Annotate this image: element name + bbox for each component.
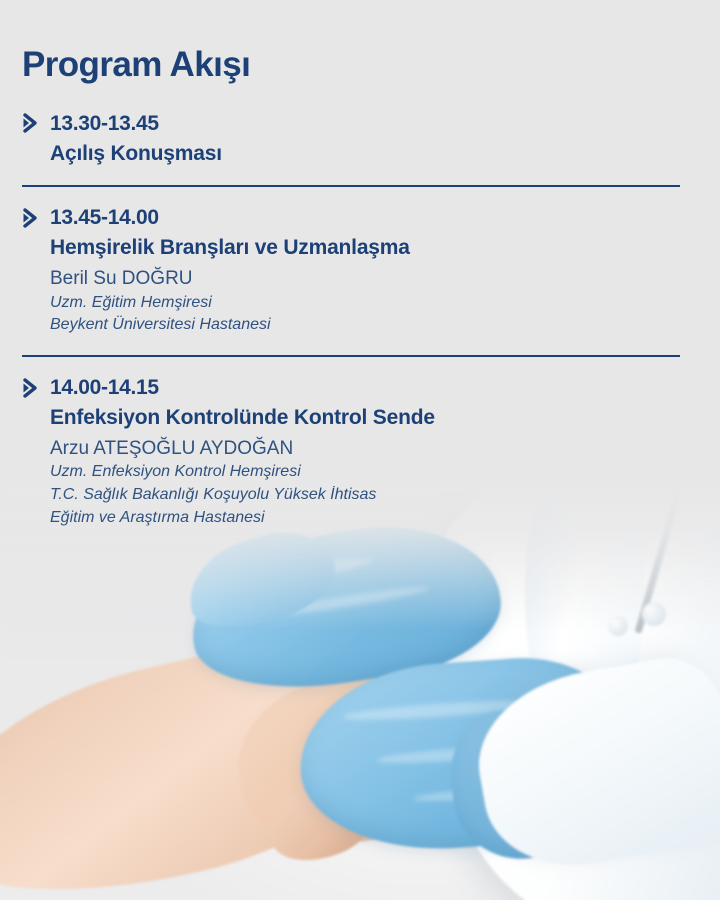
session-time: 13.45-14.00 [50,207,159,228]
session-body: Enfeksiyon Kontrolünde Kontrol Sende Arz… [22,405,700,529]
session-time: 13.30-13.45 [50,113,159,134]
content-area: Program Akışı 13.30-13.45 Açılış Konuşma… [0,0,720,530]
session-item: 13.30-13.45 Açılış Konuşması [22,113,700,188]
speaker-affiliation-line: Uzm. Enfeksiyon Kontrol Hemşiresi [50,461,700,484]
chevron-right-icon [22,208,40,228]
session-body: Hemşirelik Branşları ve Uzmanlaşma Beril… [22,235,700,337]
stethoscope-earpiece-secondary [608,616,628,636]
session-topic: Açılış Konuşması [50,141,700,168]
hero-photo [0,480,720,900]
speaker-name: Arzu ATEŞOĞLU AYDOĞAN [50,436,700,461]
schedule-list: 13.30-13.45 Açılış Konuşması 13.45-14.00… [22,113,700,530]
session-item: 13.45-14.00 Hemşirelik Branşları ve Uzma… [22,207,700,357]
chevron-right-icon [22,378,40,398]
stethoscope-earpiece [642,602,666,626]
speaker-name: Beril Su DOĞRU [50,266,700,291]
speaker-affiliation-line: Beykent Üniversitesi Hastanesi [50,314,700,337]
session-body: Açılış Konuşması [22,141,700,168]
session-topic: Hemşirelik Branşları ve Uzmanlaşma [50,235,700,262]
session-header: 13.30-13.45 [22,113,700,134]
session-divider [22,355,680,357]
session-header: 13.45-14.00 [22,207,700,228]
page-title: Program Akışı [22,46,700,85]
session-time: 14.00-14.15 [50,377,159,398]
speaker-affiliation-line: T.C. Sağlık Bakanlığı Koşuyolu Yüksek İh… [50,484,700,507]
session-divider [22,185,680,187]
chevron-right-icon [22,113,40,133]
speaker-affiliation-line: Uzm. Eğitim Hemşiresi [50,292,700,315]
session-header: 14.00-14.15 [22,377,700,398]
session-item: 14.00-14.15 Enfeksiyon Kontrolünde Kontr… [22,377,700,529]
speaker-affiliation-line: Eğitim ve Araştırma Hastanesi [50,507,700,530]
session-topic: Enfeksiyon Kontrolünde Kontrol Sende [50,405,700,432]
